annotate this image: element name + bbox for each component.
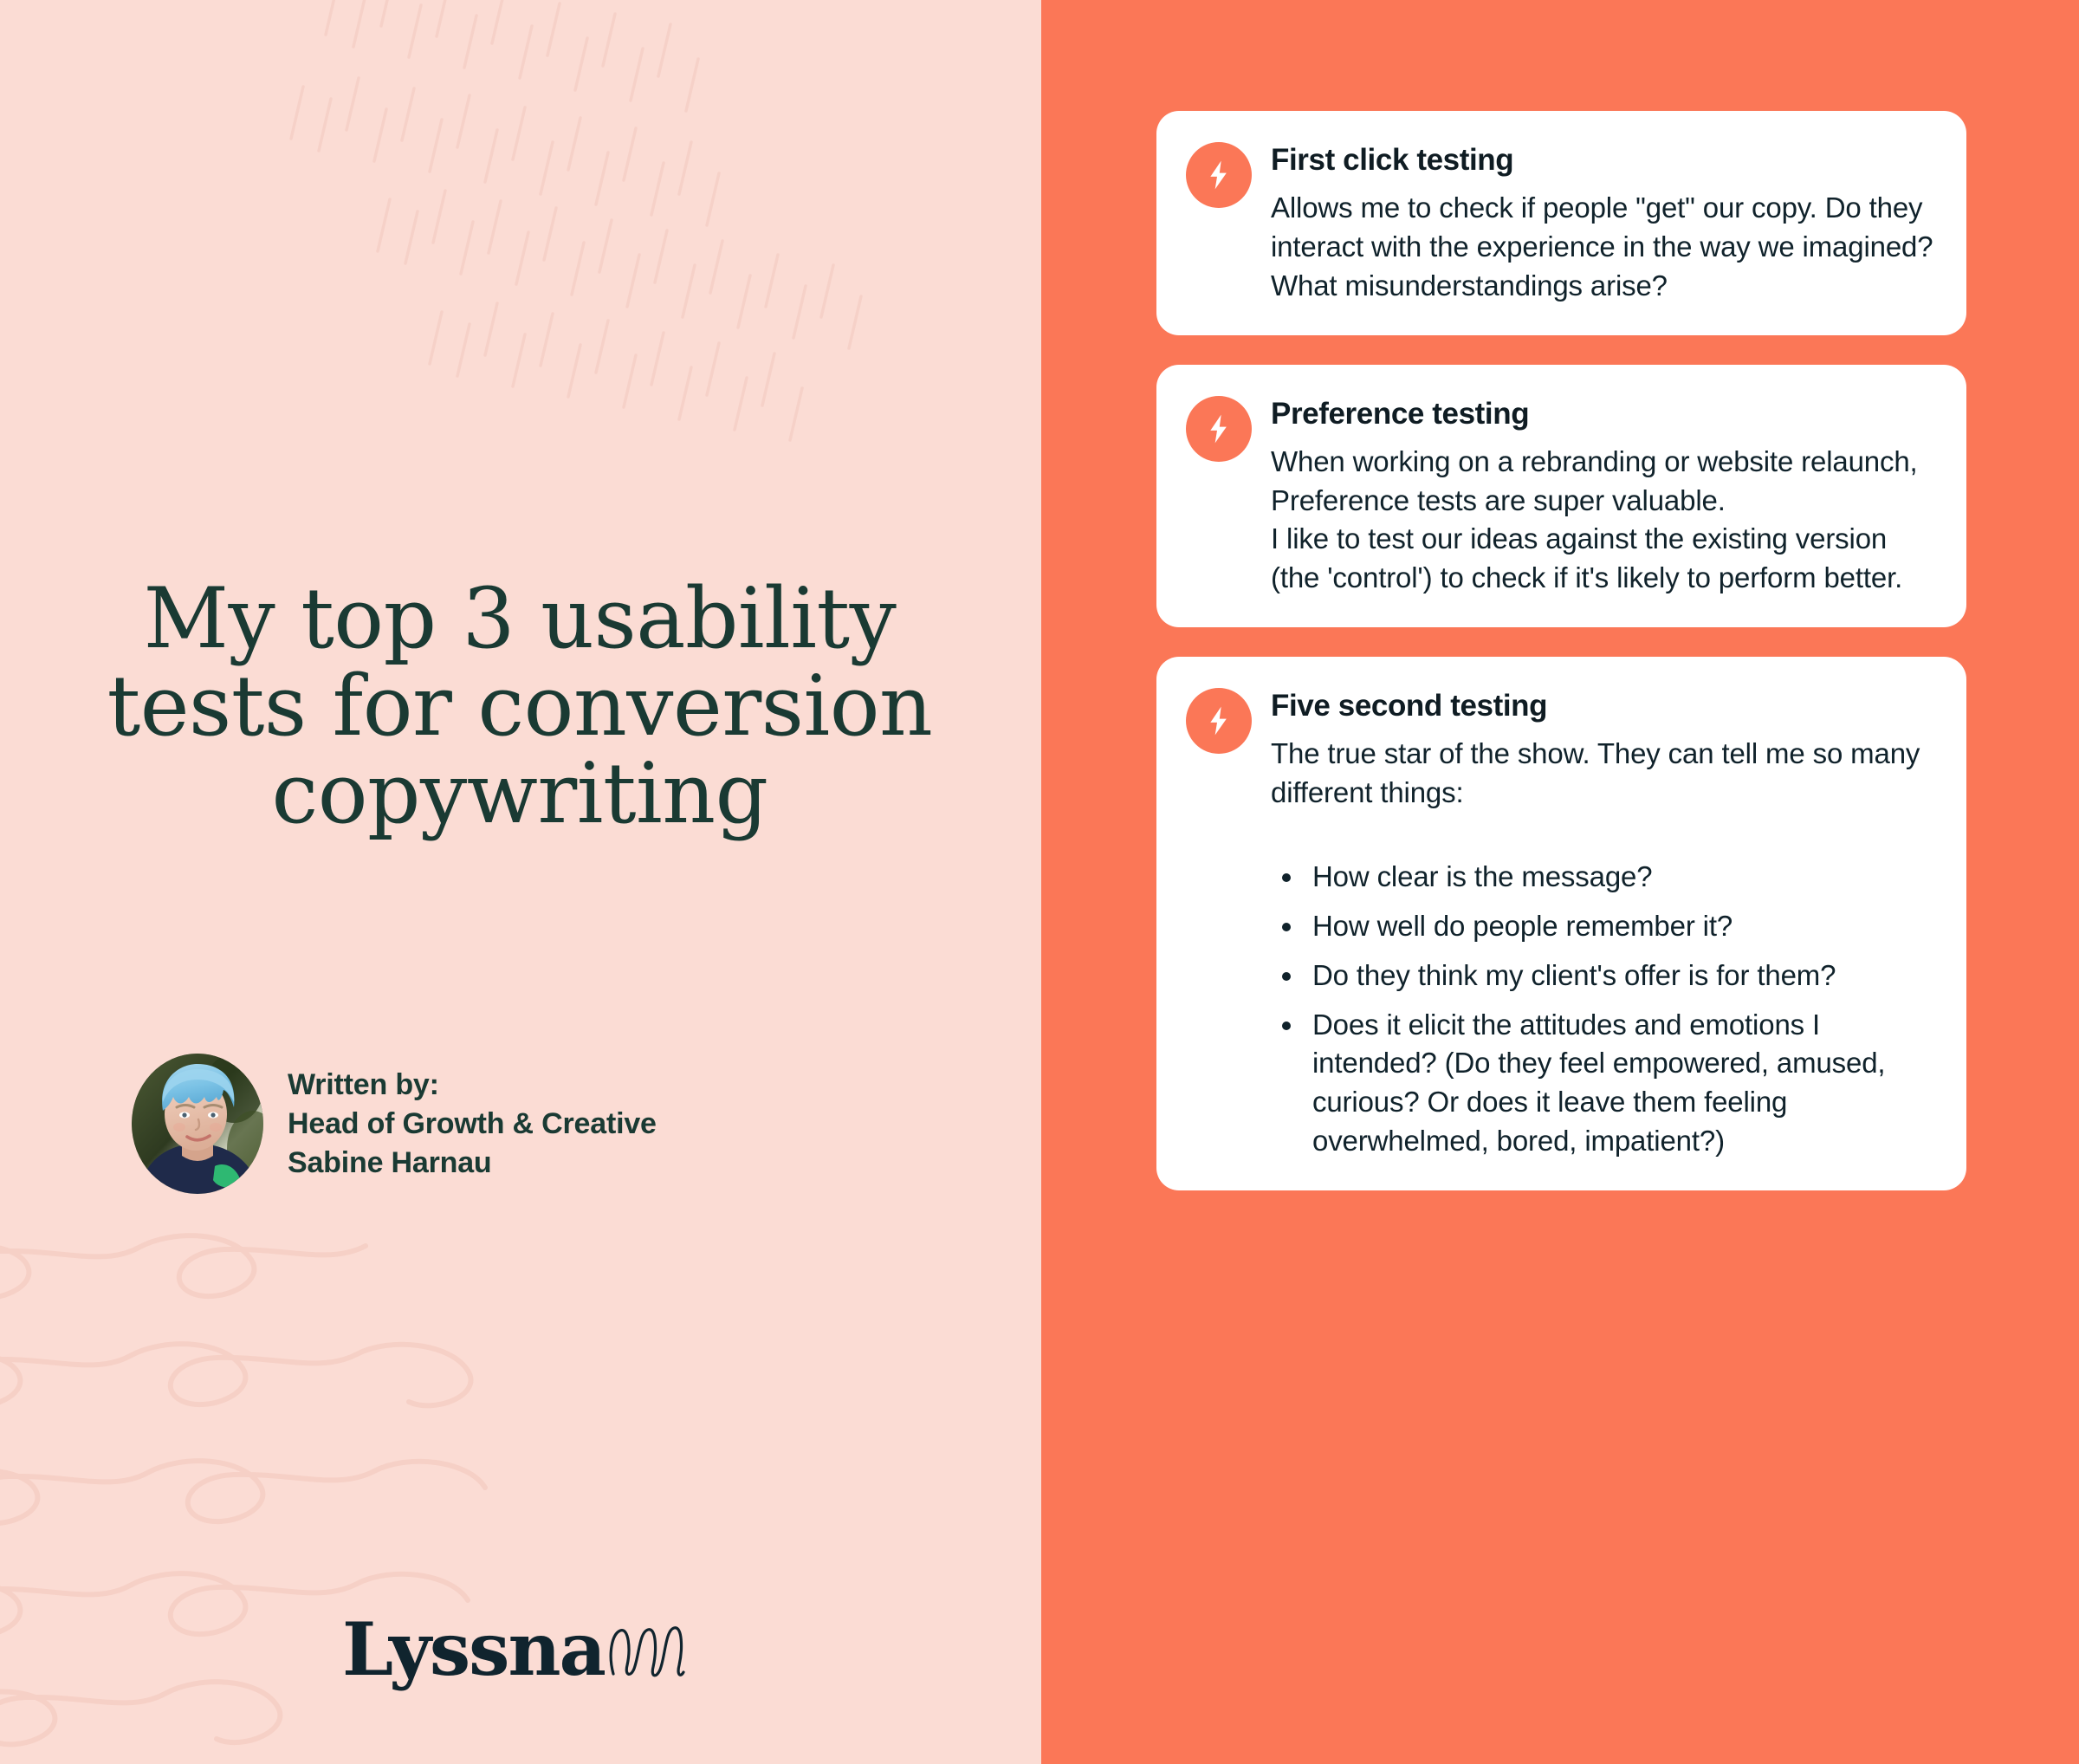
- list-item: Does it elicit the attitudes and emotion…: [1305, 1006, 1933, 1162]
- card-paragraph: The true star of the show. They can tell…: [1271, 735, 1933, 813]
- card-body: Five second testing The true star of the…: [1271, 686, 1933, 1161]
- card-paragraph: When working on a rebranding or website …: [1271, 443, 1933, 599]
- lyssna-wordmark: Lyssna: [342, 1613, 605, 1686]
- lyssna-logo: Lyssna: [342, 1613, 686, 1686]
- list-item: How well do people remember it?: [1305, 907, 1933, 946]
- avatar: [132, 1054, 263, 1194]
- right-panel: First click testing Allows me to check i…: [1041, 0, 2079, 1764]
- avatar-photo: [132, 1054, 263, 1194]
- test-cards-list: First click testing Allows me to check i…: [1156, 111, 1966, 1190]
- card-title: First click testing: [1271, 142, 1933, 178]
- card-body: First click testing Allows me to check i…: [1271, 140, 1933, 306]
- card-preference-testing[interactable]: Preference testing When working on a reb…: [1156, 365, 1966, 628]
- lightning-bolt-icon: [1186, 142, 1252, 208]
- squiggle-mark-icon: [606, 1620, 686, 1679]
- author-name: Sabine Harnau: [288, 1144, 657, 1183]
- list-item: How clear is the message?: [1305, 858, 1933, 897]
- written-by-label: Written by:: [288, 1066, 657, 1105]
- card-bullet-list: How clear is the message? How well do pe…: [1271, 858, 1933, 1161]
- lightning-bolt-icon: [1186, 396, 1252, 462]
- card-body: Preference testing When working on a reb…: [1271, 394, 1933, 599]
- author-text: Written by: Head of Growth & Creative Sa…: [288, 1054, 657, 1184]
- left-panel: My top 3 usability tests for conversion …: [0, 0, 1041, 1764]
- poster-root: My top 3 usability tests for conversion …: [0, 0, 2079, 1764]
- card-title: Five second testing: [1271, 688, 1933, 724]
- author-role: Head of Growth & Creative: [288, 1105, 657, 1144]
- card-title: Preference testing: [1271, 396, 1933, 432]
- card-paragraph: Allows me to check if people "get" our c…: [1271, 189, 1933, 306]
- author-block: Written by: Head of Growth & Creative Sa…: [132, 1054, 657, 1194]
- card-five-second-testing[interactable]: Five second testing The true star of the…: [1156, 657, 1966, 1190]
- lightning-bolt-icon: [1186, 688, 1252, 754]
- card-first-click-testing[interactable]: First click testing Allows me to check i…: [1156, 111, 1966, 335]
- page-title: My top 3 usability tests for conversion …: [52, 575, 988, 837]
- list-item: Do they think my client's offer is for t…: [1305, 957, 1933, 995]
